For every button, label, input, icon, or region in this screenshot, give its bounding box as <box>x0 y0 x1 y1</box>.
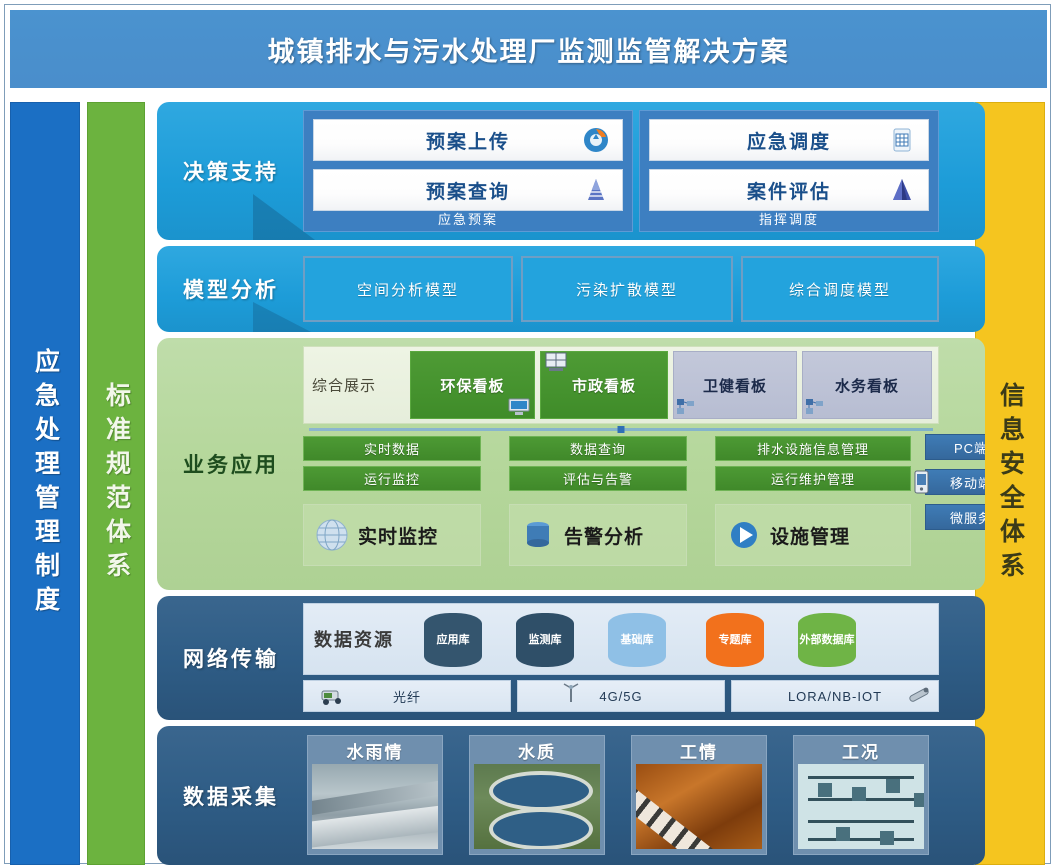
database-label: 应用库 <box>437 634 470 646</box>
business-column-monitoring: 实时数据 运行监控 <box>303 436 481 496</box>
flowchart-icon <box>676 398 696 416</box>
layer-decision-label: 决策支持 <box>157 102 305 240</box>
pyramid-icon <box>582 176 610 204</box>
business-feature-label: 告警分析 <box>564 522 644 549</box>
dashboard-divider <box>309 428 933 431</box>
decision-item-label: 预案上传 <box>426 127 510 154</box>
terminal-mobile[interactable]: 移动端 <box>925 469 985 495</box>
data-resource-panel: 数据资源 应用库 监测库 基础库 专题库 外部数据库 <box>303 603 939 675</box>
decision-item-emergency-dispatch[interactable]: 应急调度 <box>649 119 929 161</box>
collect-card-water-quality[interactable]: 水质 <box>469 735 605 855</box>
recycle-circle-icon <box>582 126 610 154</box>
decision-item-label: 案件评估 <box>747 177 831 204</box>
diagram-frame: 城镇排水与污水处理厂监测监管解决方案 应急处理管理制度 标准规范体系 信息安全体… <box>4 4 1051 864</box>
layer-network-label: 网络传输 <box>157 596 305 720</box>
terminal-pc[interactable]: PC端 <box>925 434 985 460</box>
database-monitoring[interactable]: 监测库 <box>516 613 574 667</box>
dashboard-card-label: 市政看板 <box>572 375 636 396</box>
business-feature-realtime-monitor[interactable]: 实时监控 <box>303 504 481 566</box>
collect-photo-water-quality <box>474 764 600 849</box>
layer-business-label: 业务应用 <box>157 338 305 590</box>
dashboard-card-label: 环保看板 <box>440 375 504 396</box>
business-feature-label: 设施管理 <box>770 522 850 549</box>
decision-item-label: 应急调度 <box>747 127 831 154</box>
transmission-label: LORA/NB-IOT <box>788 689 882 704</box>
business-button-label: 运行维护管理 <box>771 469 855 488</box>
dashboard-card-health[interactable]: 卫健看板 <box>673 351 797 419</box>
business-button-label: 排水设施信息管理 <box>757 439 869 458</box>
business-feature-alarm-analysis[interactable]: 告警分析 <box>509 504 687 566</box>
dashboard-card-environment[interactable]: 环保看板 <box>410 351 535 419</box>
layer-collect-label: 数据采集 <box>157 726 305 865</box>
layer-model-analysis: 模型分析 空间分析模型 污染扩散模型 综合调度模型 <box>157 246 985 332</box>
window-icon <box>545 352 567 372</box>
decision-group-emergency-plan: 预案上传 预案查询 <box>303 110 633 232</box>
collect-photo-engineering <box>636 764 762 849</box>
model-item-label: 空间分析模型 <box>357 279 459 300</box>
terminal-list: PC端 移动端 微服务 <box>925 434 985 539</box>
collect-card-operating-condition[interactable]: 工况 <box>793 735 929 855</box>
data-resource-caption: 数据资源 <box>314 626 394 652</box>
terminal-label: 移动端 <box>950 473 985 492</box>
decision-item-plan-upload[interactable]: 预案上传 <box>313 119 623 161</box>
collect-card-hydrology[interactable]: 水雨情 <box>307 735 443 855</box>
collect-photo-operating-condition <box>798 764 924 849</box>
layer-decision-support: 决策支持 预案上传 预案查询 <box>157 102 985 240</box>
sensor-icon <box>906 684 932 704</box>
page-title: 城镇排水与污水处理厂监测监管解决方案 <box>268 30 790 69</box>
fiber-optic-icon <box>318 686 344 706</box>
play-circle-icon <box>724 515 764 555</box>
terminal-label: PC端 <box>954 438 985 457</box>
blue-pyramid-icon <box>888 176 916 204</box>
decision-item-case-evaluation[interactable]: 案件评估 <box>649 169 929 211</box>
collect-card-label: 水质 <box>470 736 604 764</box>
monitor-icon <box>508 398 530 416</box>
database-label: 专题库 <box>719 634 752 646</box>
database-cylinder-icon <box>518 515 558 555</box>
database-label: 基础库 <box>621 634 654 646</box>
business-button-evaluation-alarm[interactable]: 评估与告警 <box>509 466 687 491</box>
terminal-label: 微服务 <box>950 508 985 527</box>
business-button-label: 实时数据 <box>364 439 420 458</box>
layer-data-acquisition: 数据采集 水雨情 水质 工情 工况 <box>157 726 985 865</box>
business-column-query: 数据查询 评估与告警 <box>509 436 687 496</box>
business-button-label: 评估与告警 <box>563 469 633 488</box>
flowchart-icon <box>805 398 825 416</box>
model-item-label: 综合调度模型 <box>789 279 891 300</box>
collect-card-engineering[interactable]: 工情 <box>631 735 767 855</box>
collect-card-label: 水雨情 <box>308 736 442 764</box>
database-application[interactable]: 应用库 <box>424 613 482 667</box>
sidebar-security-system: 信息安全体系 <box>975 102 1045 865</box>
architecture-layer-stack: 决策支持 预案上传 预案查询 <box>157 102 985 865</box>
database-label: 监测库 <box>529 634 562 646</box>
decision-group-command-dispatch: 应急调度 案件评估 <box>639 110 939 232</box>
globe-icon <box>312 515 352 555</box>
model-item-pollution-diffusion[interactable]: 污染扩散模型 <box>521 256 733 322</box>
title-bar: 城镇排水与污水处理厂监测监管解决方案 <box>10 10 1047 88</box>
decision-item-plan-query[interactable]: 预案查询 <box>313 169 623 211</box>
business-button-label: 数据查询 <box>570 439 626 458</box>
transmission-lora-nbiot[interactable]: LORA/NB-IOT <box>731 680 939 712</box>
layer-business-application: 业务应用 综合展示 环保看板 市政看板 <box>157 338 985 590</box>
transmission-fiber[interactable]: 光纤 <box>303 680 511 712</box>
decision-group-caption: 应急预案 <box>304 209 632 228</box>
mobile-phone-icon <box>906 470 936 494</box>
model-item-spatial[interactable]: 空间分析模型 <box>303 256 513 322</box>
model-item-label: 污染扩散模型 <box>576 279 678 300</box>
antenna-icon <box>558 683 584 703</box>
transmission-row: 光纤 4G/5G LORA/NB-IOT <box>303 680 939 712</box>
decision-item-label: 预案查询 <box>426 177 510 204</box>
business-button-realtime-data[interactable]: 实时数据 <box>303 436 481 461</box>
grid-calculator-icon <box>888 126 916 154</box>
sidebar-standard-system: 标准规范体系 <box>87 102 145 865</box>
business-button-operation-monitor[interactable]: 运行监控 <box>303 466 481 491</box>
sidebar-standard-label: 标准规范体系 <box>104 382 129 586</box>
dashboard-caption: 综合展示 <box>312 375 376 396</box>
sidebar-emergency-label: 应急处理管理制度 <box>33 348 58 620</box>
business-feature-facility-management[interactable]: 设施管理 <box>715 504 911 566</box>
layer-network-transmission: 网络传输 数据资源 应用库 监测库 基础库 专题库 外部数据库 <box>157 596 985 720</box>
terminal-microservice[interactable]: 微服务 <box>925 504 985 530</box>
sidebar-security-label: 信息安全体系 <box>998 382 1023 586</box>
business-feature-label: 实时监控 <box>358 522 438 549</box>
database-external[interactable]: 外部数据库 <box>798 613 856 667</box>
layer-model-label: 模型分析 <box>157 246 305 332</box>
dashboard-panel: 综合展示 环保看板 市政看板 <box>303 346 939 424</box>
database-foundation[interactable]: 基础库 <box>608 613 666 667</box>
business-button-maintenance-management[interactable]: 运行维护管理 <box>715 466 911 491</box>
transmission-mobile-network[interactable]: 4G/5G <box>517 680 725 712</box>
collect-card-label: 工情 <box>632 736 766 764</box>
transmission-label: 4G/5G <box>599 689 642 704</box>
model-item-integrated-dispatch[interactable]: 综合调度模型 <box>741 256 939 322</box>
transmission-label: 光纤 <box>393 687 421 706</box>
business-column-facility: 排水设施信息管理 运行维护管理 <box>715 436 911 496</box>
collect-card-label: 工况 <box>794 736 928 764</box>
business-button-data-query[interactable]: 数据查询 <box>509 436 687 461</box>
business-button-drainage-facility-info[interactable]: 排水设施信息管理 <box>715 436 911 461</box>
business-button-label: 运行监控 <box>364 469 420 488</box>
database-thematic[interactable]: 专题库 <box>706 613 764 667</box>
dashboard-card-municipal[interactable]: 市政看板 <box>540 351 668 419</box>
collect-photo-hydrology <box>312 764 438 849</box>
decision-group-caption: 指挥调度 <box>640 209 938 228</box>
dashboard-card-label: 卫健看板 <box>703 375 767 396</box>
dashboard-card-label: 水务看板 <box>835 375 899 396</box>
dashboard-card-water-affairs[interactable]: 水务看板 <box>802 351 932 419</box>
database-label: 外部数据库 <box>800 634 855 646</box>
sidebar-emergency-management: 应急处理管理制度 <box>10 102 80 865</box>
